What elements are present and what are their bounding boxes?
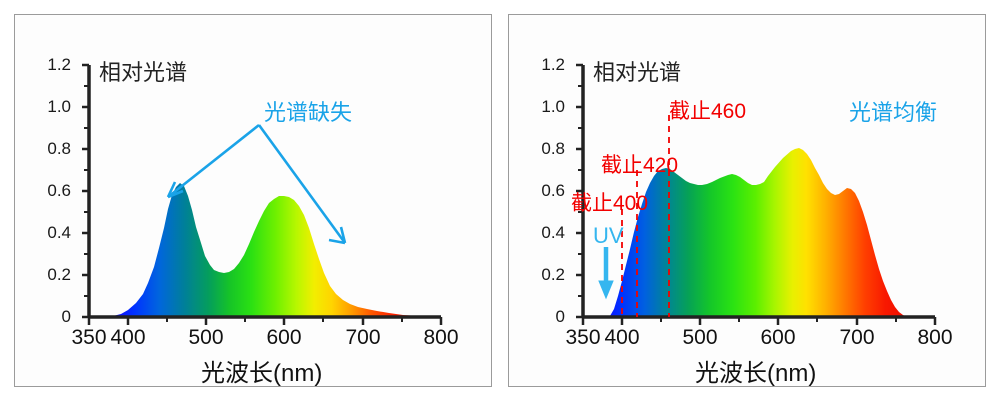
figure-root: 1.2 1.0 0.8 0.6 0.4 0.2 0 350 400 500 60… <box>0 0 1000 401</box>
y-tick-right-2: 1.0 <box>525 97 565 117</box>
panel-left-spectrum-missing: 1.2 1.0 0.8 0.6 0.4 0.2 0 350 400 500 60… <box>14 14 492 387</box>
y-tick-left-3: 0.8 <box>31 139 71 159</box>
x-axis-title-right: 光波长(nm) <box>695 353 816 388</box>
x-axis-title-left: 光波长(nm) <box>201 353 322 388</box>
x-tick-left-600: 600 <box>249 326 319 350</box>
y-tick-left-2: 1.0 <box>31 97 71 117</box>
y-tick-left-7: 0 <box>31 307 71 327</box>
x-tick-right-600: 600 <box>743 326 813 350</box>
cutoff-420-label: 截止420 <box>601 149 678 179</box>
y-tick-right-5: 0.4 <box>525 223 565 243</box>
y-tick-left-6: 0.2 <box>31 265 71 285</box>
y-tick-right-3: 0.8 <box>525 139 565 159</box>
x-tick-right-500: 500 <box>665 326 735 350</box>
spectrum-area-left <box>89 183 441 317</box>
y-tick-right-1: 1.2 <box>525 55 565 75</box>
panel-right-spectrum-balanced: 1.2 1.0 0.8 0.6 0.4 0.2 0 350 400 500 60… <box>508 14 986 387</box>
chart-title-left: 相对光谱 <box>99 55 187 87</box>
y-tick-right-7: 0 <box>525 307 565 327</box>
y-tick-left-5: 0.4 <box>31 223 71 243</box>
x-tick-left-800: 800 <box>406 326 476 350</box>
x-tick-right-700: 700 <box>822 326 892 350</box>
x-tick-right-400: 400 <box>587 326 657 350</box>
y-tick-left-4: 0.6 <box>31 181 71 201</box>
y-tick-right-6: 0.2 <box>525 265 565 285</box>
cutoff-400-label: 截止400 <box>571 187 648 217</box>
spectrum-missing-label: 光谱缺失 <box>264 95 352 127</box>
x-tick-right-800: 800 <box>900 326 970 350</box>
chart-title-right: 相对光谱 <box>593 55 681 87</box>
x-tick-left-400: 400 <box>93 326 163 350</box>
y-tick-left-1: 1.2 <box>31 55 71 75</box>
cutoff-460-label: 截止460 <box>669 95 746 125</box>
x-tick-left-500: 500 <box>171 326 241 350</box>
spectrum-balanced-label: 光谱均衡 <box>849 95 937 127</box>
y-tick-right-4: 0.6 <box>525 181 565 201</box>
uv-label: UV <box>593 223 624 249</box>
uv-arrow <box>599 247 613 298</box>
x-tick-left-700: 700 <box>328 326 398 350</box>
